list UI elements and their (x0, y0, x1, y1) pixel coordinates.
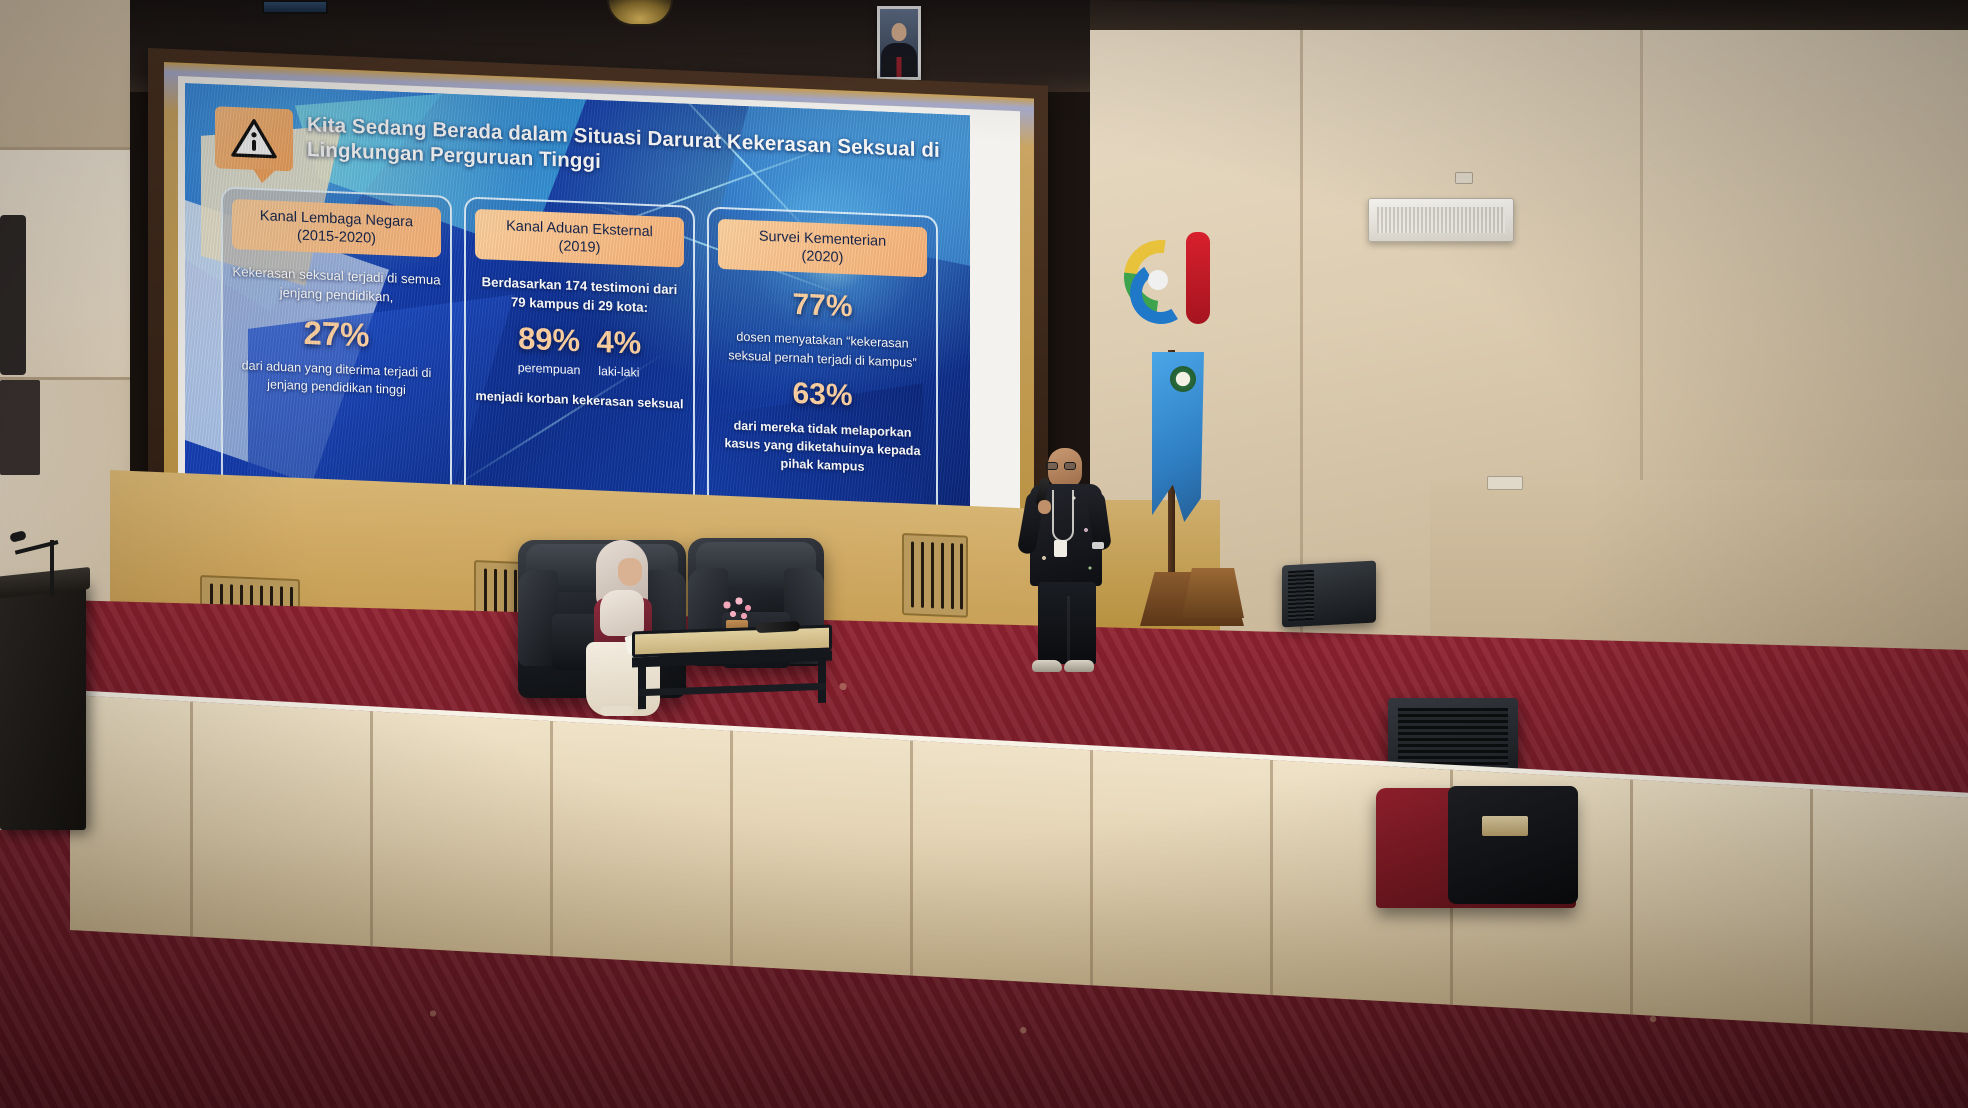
card-2-stat-pairs: 89% perempuan 4% laki-laki (518, 322, 642, 379)
card-3-stat-2: 63% (792, 379, 852, 411)
auditorium-scene: Kita Sedang Berada dalam Situasi Darurat… (0, 0, 1968, 1108)
presenter-shoe-left (1032, 660, 1062, 672)
flower-vase-blooms (720, 596, 754, 622)
coffee-table-leg-right (818, 659, 826, 703)
wall-socket-upper (1455, 172, 1473, 184)
presenter-wristwatch (1092, 542, 1104, 549)
standing-presenter (1022, 448, 1110, 678)
card-2-heading: Kanal Aduan Eksternal (2019) (475, 209, 684, 268)
card-2-pair-2-label: laki-laki (598, 364, 639, 380)
card-2-lead: Berdasarkan 174 testimoni dari 79 kampus… (475, 273, 684, 319)
floor-monitor-speaker (1282, 561, 1376, 628)
stage-vent-right (902, 533, 968, 618)
presenter-hand (1038, 500, 1051, 514)
card-3-body: 77% dosen menyatakan “kekerasan seksual … (718, 269, 927, 527)
card-3-sub-2: dari mereka tidak melaporkan kasus yang … (718, 416, 927, 479)
left-wall-dark-block (0, 380, 40, 475)
ceiling-screen-strip (262, 0, 328, 14)
portrait-head (892, 23, 907, 41)
card-3-stat-1: 77% (792, 290, 852, 322)
slide-title: Kita Sedang Berada dalam Situasi Darurat… (307, 110, 944, 188)
seated-moderator-shoe (600, 706, 634, 716)
card-1-lead: Kekerasan seksual terjadi di semua jenja… (232, 263, 441, 309)
card-2-body: Berdasarkan 174 testimoni dari 79 kampus… (475, 259, 684, 517)
card-1-stat: 27% (303, 316, 369, 352)
right-wall-lower-panel (1430, 480, 1968, 660)
presenter-trousers (1038, 582, 1096, 664)
card-3-heading: Survei Kementerian (2020) (718, 219, 927, 278)
audience-chair-nameplate (1482, 816, 1528, 836)
lectern-microphone-icon (10, 520, 82, 590)
card-1-sub: dari aduan yang diterima terjadi di jenj… (232, 356, 441, 401)
warning-triangle-icon (215, 106, 293, 171)
ministry-emblem-icon (1124, 232, 1210, 340)
left-wall-panel-upper (0, 0, 130, 150)
card-survei-kementerian: Survei Kementerian (2020) 77% dosen meny… (707, 206, 938, 543)
wall-mounted-speaker (1368, 198, 1514, 242)
card-2-pair-2-value: 4% (596, 326, 641, 359)
audience-chair-dark (1448, 786, 1578, 904)
card-1-body: Kekerasan seksual terjadi di semua jenja… (232, 249, 441, 507)
presenter-id-badge (1054, 540, 1067, 557)
left-wall-dark-inset (0, 215, 26, 375)
card-3-sub-1: dosen menyatakan “kekerasan seksual pern… (718, 327, 927, 372)
emblem-red-bar (1186, 232, 1210, 324)
right-wall-seam-1 (1300, 30, 1303, 650)
card-2-pair-1-label: perempuan (518, 360, 581, 377)
coffee-table-shelf (638, 683, 826, 697)
portrait-tie (897, 57, 902, 77)
card-2-pair-1-value: 89% (518, 322, 580, 356)
presenter-shoe-right (1064, 660, 1094, 672)
lectern (0, 580, 86, 830)
emblem-center-dot (1148, 270, 1168, 290)
flag-base-rear (1182, 568, 1244, 618)
presenter-lanyard (1052, 490, 1074, 542)
coffee-table-leg-left (638, 665, 646, 709)
glasses-icon (1046, 462, 1076, 470)
card-2-pair-perempuan: 89% perempuan (518, 322, 581, 377)
card-2-sub: menjadi korban kekerasan seksual (476, 387, 684, 414)
wall-socket-lower (1487, 476, 1523, 490)
seated-moderator-face (618, 558, 642, 586)
card-kanal-aduan-eksternal: Kanal Aduan Eksternal (2019) Berdasarkan… (464, 196, 695, 533)
slide-header: Kita Sedang Berada dalam Situasi Darurat… (215, 106, 944, 198)
card-kanal-lembaga-negara: Kanal Lembaga Negara (2015-2020) Kekeras… (221, 186, 452, 523)
coffee-table (632, 625, 832, 710)
card-1-heading: Kanal Lembaga Negara (2015-2020) (232, 199, 441, 258)
flag-emblem-icon (1170, 366, 1196, 392)
card-2-pair-laki-laki: 4% laki-laki (596, 326, 641, 380)
seated-moderator-scarf (600, 590, 644, 636)
official-portrait-frame (877, 6, 921, 80)
